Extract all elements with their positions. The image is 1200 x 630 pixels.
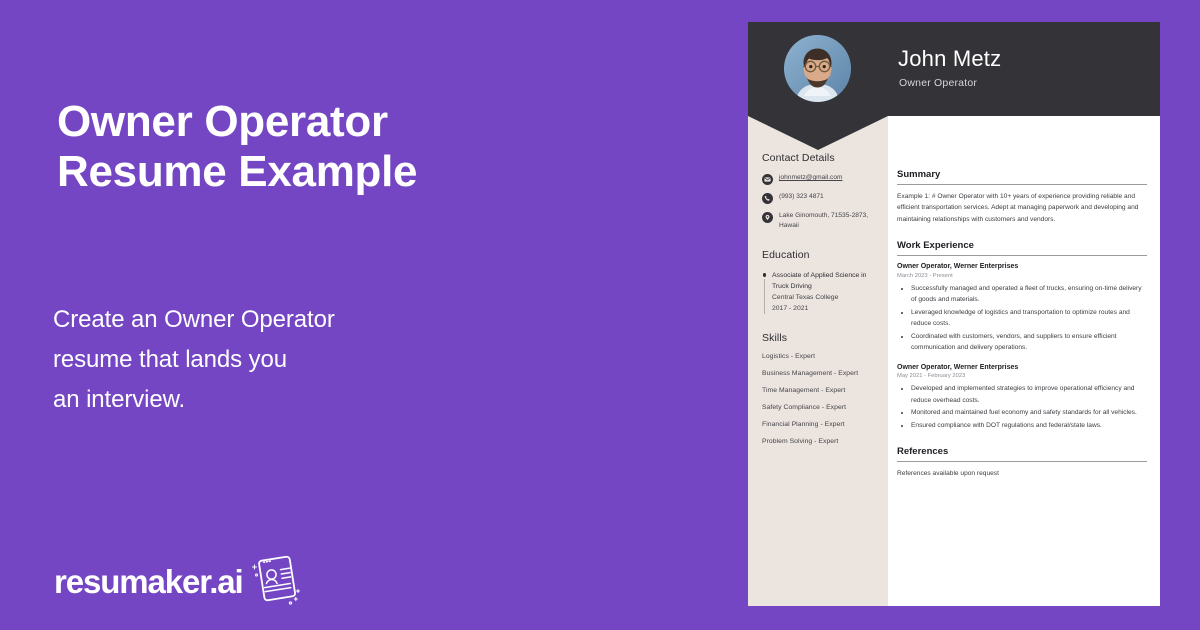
education-bullet-marker (762, 270, 767, 314)
page-title-line-2: Resume Example (57, 147, 677, 197)
location-pin-icon (762, 212, 773, 223)
education-section: Education Associate of Applied Science i… (762, 249, 877, 314)
summary-text: Example 1: # Owner Operator with 10+ yea… (897, 191, 1147, 225)
skill-item: Financial Planning - Expert (762, 421, 877, 428)
job-bullet-list: Developed and implemented strategies to … (897, 383, 1147, 431)
summary-section: Summary Example 1: # Owner Operator with… (897, 169, 1147, 225)
job-bullet: Coordinated with customers, vendors, and… (911, 331, 1147, 354)
resume-preview-card[interactable]: John Metz Owner Operator Contact Details… (748, 22, 1160, 606)
page-title: Owner Operator Resume Example (57, 97, 677, 197)
envelope-icon (762, 174, 773, 185)
contact-item-location: Lake Ginomouth, 71535-2873, Hawaii (762, 211, 877, 231)
work-experience-divider (897, 255, 1147, 256)
resume-card-sparkle-icon (249, 552, 301, 611)
resume-role: Owner Operator (899, 77, 977, 89)
promo-subtext-line-1: Create an Owner Operator (53, 300, 453, 340)
phone-icon (762, 193, 773, 204)
resume-header: John Metz Owner Operator (748, 22, 1160, 116)
contact-heading: Contact Details (762, 152, 877, 164)
skill-item: Time Management - Expert (762, 387, 877, 394)
job-title: Owner Operator, Werner Enterprises (897, 363, 1147, 373)
skills-heading: Skills (762, 332, 877, 344)
skill-item: Problem Solving - Expert (762, 438, 877, 445)
resume-main-column: Summary Example 1: # Owner Operator with… (888, 116, 1160, 606)
skill-item: Business Management - Expert (762, 370, 877, 377)
work-experience-section: Work Experience Owner Operator, Werner E… (897, 240, 1147, 431)
contact-email-value[interactable]: johnmetz@gmail.com (779, 173, 843, 183)
header-chevron-shape (748, 116, 888, 150)
summary-heading: Summary (897, 169, 1147, 180)
page-title-line-1: Owner Operator (57, 97, 677, 147)
job-bullet: Successfully managed and operated a flee… (911, 283, 1147, 306)
education-heading: Education (762, 249, 877, 261)
avatar (784, 35, 851, 102)
education-item: Associate of Applied Science in Truck Dr… (762, 270, 877, 314)
skill-item: Logistics - Expert (762, 353, 877, 360)
job-title: Owner Operator, Werner Enterprises (897, 262, 1147, 272)
education-degree: Associate of Applied Science in Truck Dr… (772, 272, 866, 290)
work-experience-item: Owner Operator, Werner Enterprises March… (897, 262, 1147, 354)
job-dates: May 2021 - February 2023 (897, 373, 1147, 379)
contact-item-email[interactable]: johnmetz@gmail.com (762, 173, 877, 185)
education-school: Central Texas College (772, 294, 838, 301)
contact-location-value: Lake Ginomouth, 71535-2873, Hawaii (779, 211, 877, 231)
promo-panel: Owner Operator Resume Example Create an … (0, 0, 748, 630)
work-experience-heading: Work Experience (897, 240, 1147, 251)
promo-subtext-line-2: resume that lands you (53, 340, 453, 380)
promo-subtext-line-3: an interview. (53, 380, 453, 420)
references-heading: References (897, 446, 1147, 457)
references-divider (897, 461, 1147, 462)
references-text: References available upon request (897, 468, 1147, 479)
resumaker-logo[interactable]: resumaker.ai (54, 552, 301, 611)
summary-divider (897, 184, 1147, 185)
contact-section: Contact Details johnmetz@gmail.com (993)… (762, 152, 877, 231)
logo-wordmark: resumaker.ai (54, 563, 243, 601)
references-section: References References available upon req… (897, 446, 1147, 479)
contact-phone-value: (993) 323 4871 (779, 192, 824, 202)
job-bullet: Developed and implemented strategies to … (911, 383, 1147, 406)
job-bullet-list: Successfully managed and operated a flee… (897, 283, 1147, 354)
job-bullet: Monitored and maintained fuel economy an… (911, 407, 1147, 418)
resume-name: John Metz (898, 46, 1001, 72)
education-dates: 2017 - 2021 (772, 305, 808, 312)
job-bullet: Ensured compliance with DOT regulations … (911, 420, 1147, 431)
skills-section: Skills Logistics - Expert Business Manag… (762, 332, 877, 445)
job-dates: March 2023 - Present (897, 273, 1147, 279)
work-experience-item: Owner Operator, Werner Enterprises May 2… (897, 363, 1147, 432)
skill-item: Safety Compliance - Expert (762, 404, 877, 411)
resume-sidebar: Contact Details johnmetz@gmail.com (993)… (748, 116, 888, 606)
promo-subtext: Create an Owner Operator resume that lan… (53, 300, 453, 420)
job-bullet: Leveraged knowledge of logistics and tra… (911, 307, 1147, 330)
contact-item-phone[interactable]: (993) 323 4871 (762, 192, 877, 204)
